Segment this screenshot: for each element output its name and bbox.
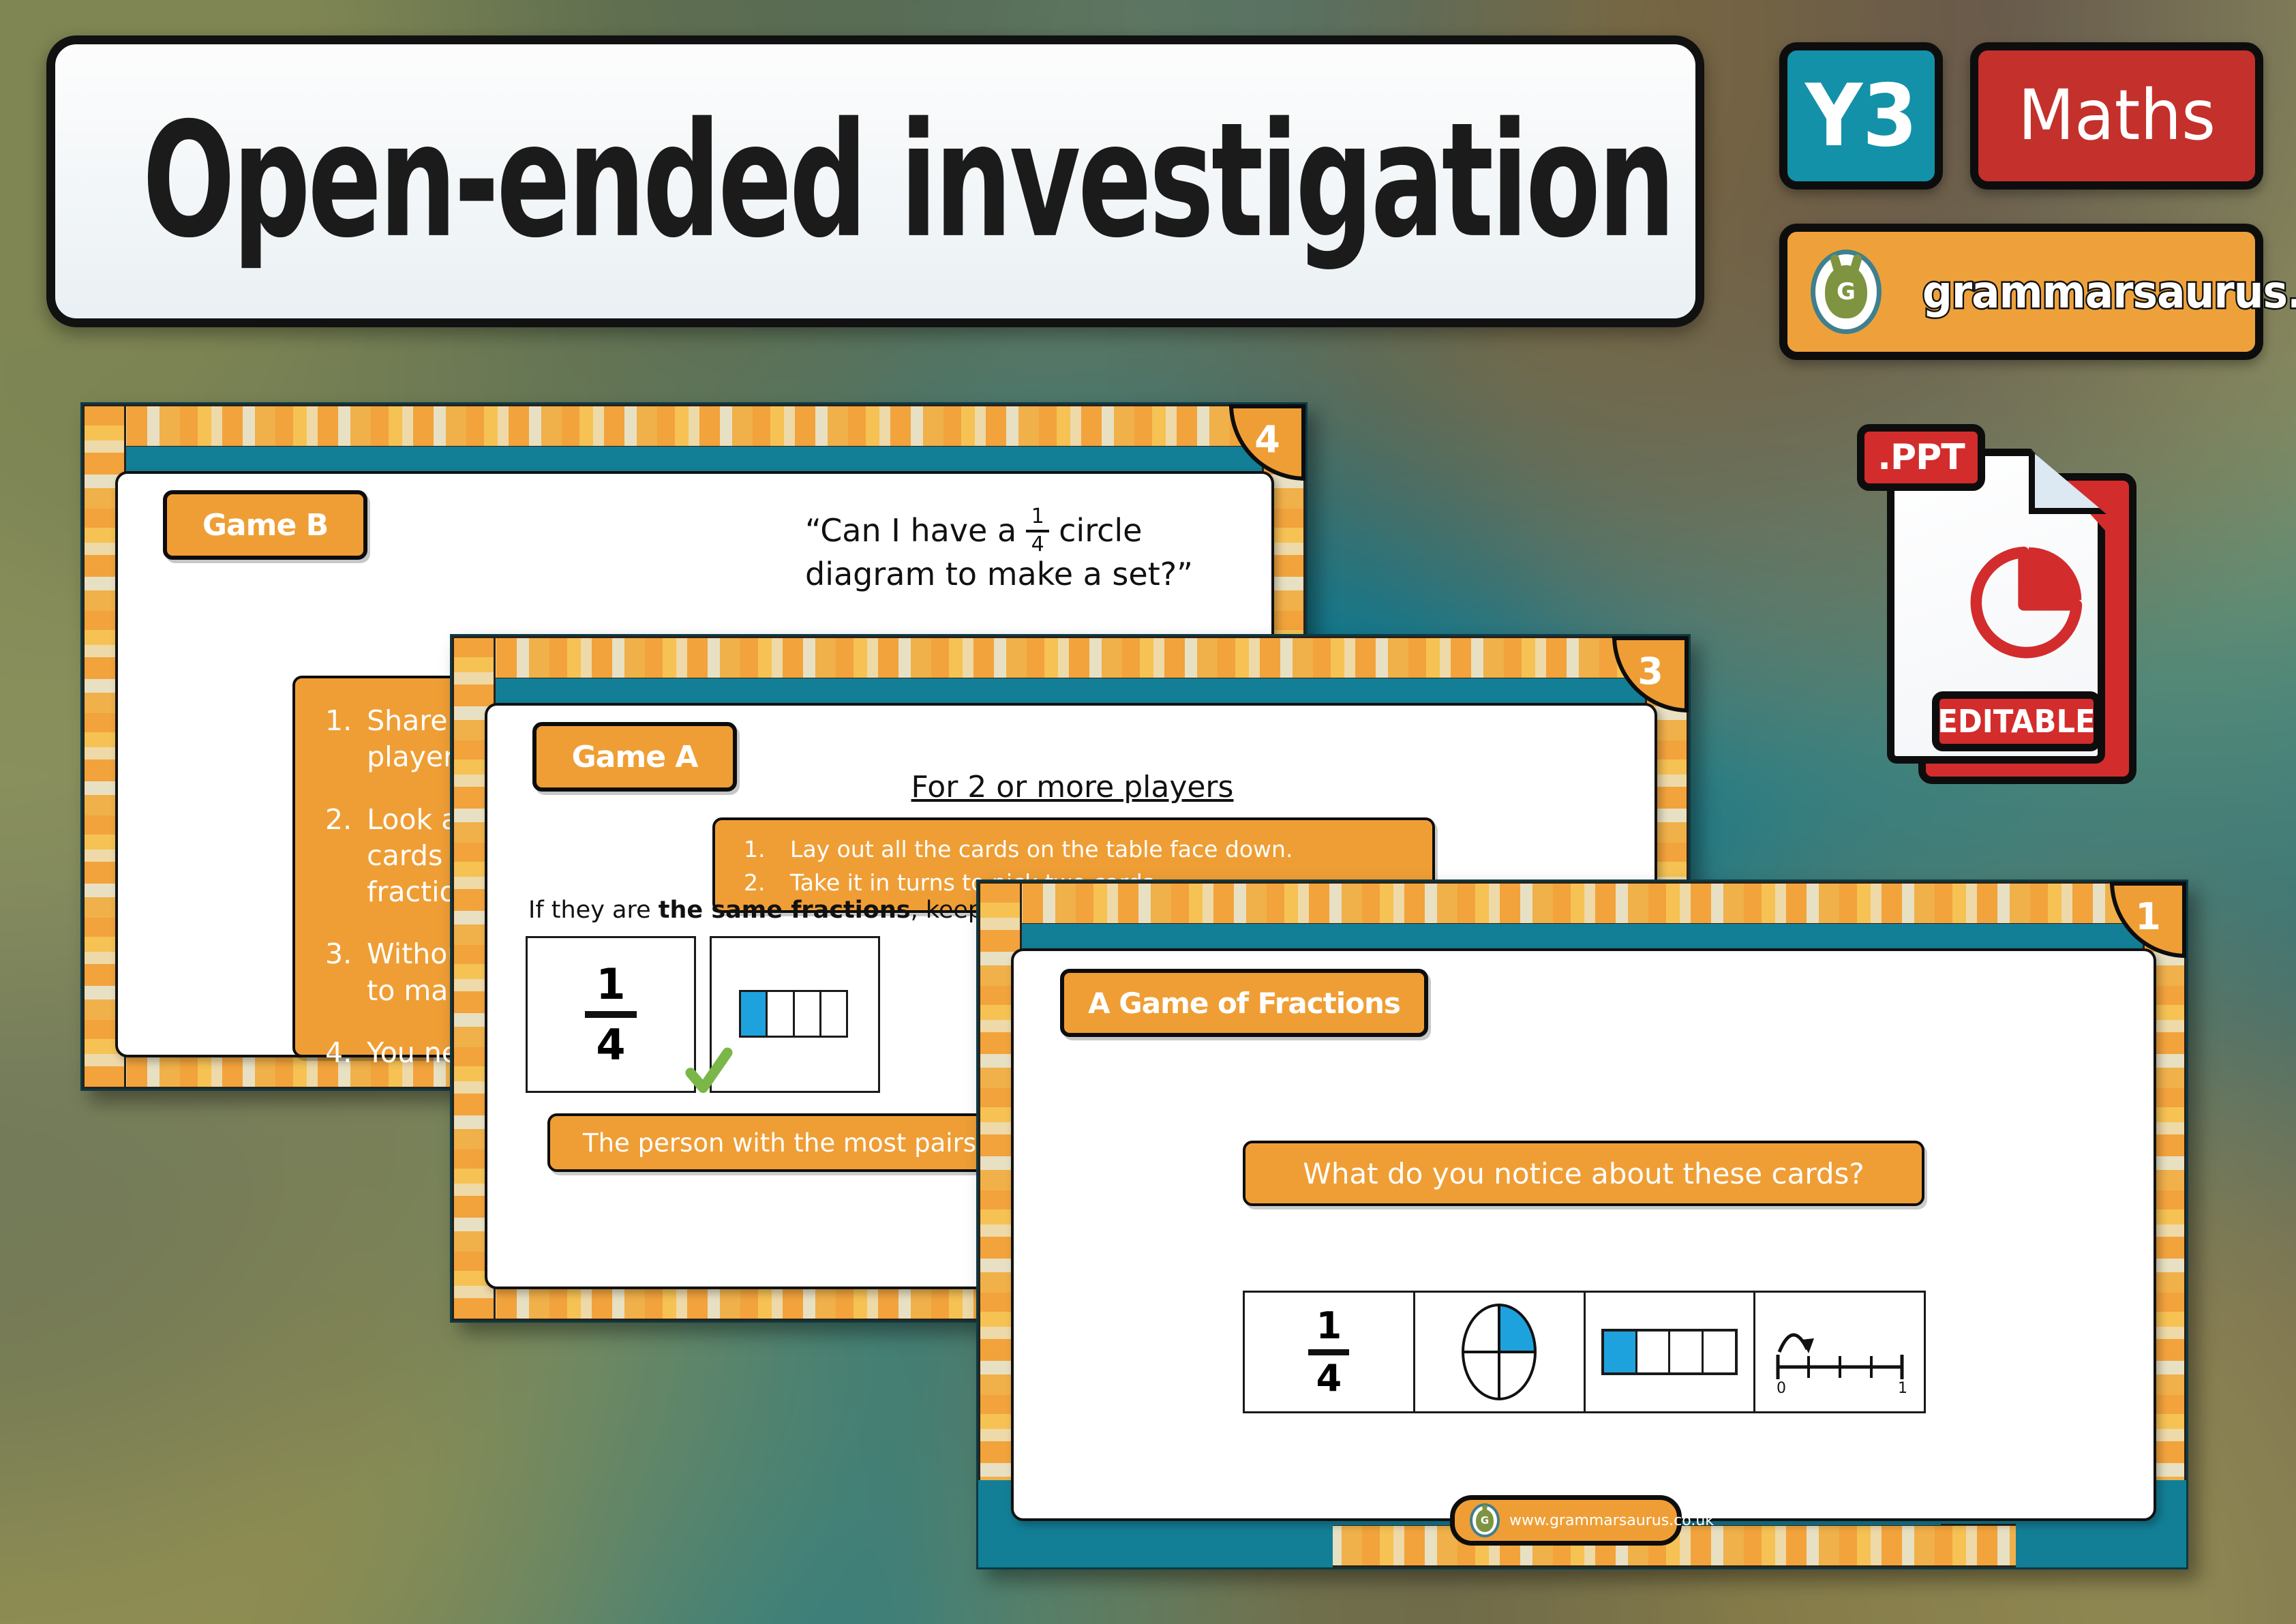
number-line-start-label: 0 bbox=[1777, 1380, 1786, 1397]
speech-line2: diagram to make a set?” bbox=[805, 555, 1241, 595]
editable-label-box: EDITABLE bbox=[1932, 691, 2101, 751]
file-format-label-box: .PPT bbox=[1857, 424, 1985, 491]
slide-title-tab-fractions: A Game of Fractions bbox=[1060, 969, 1428, 1037]
bar-cell-shaded bbox=[1604, 1332, 1637, 1372]
slide-title-tab-label: Game A bbox=[572, 740, 698, 775]
list-item-number: 1. bbox=[744, 834, 775, 866]
fraction-cards-row: 1 4 bbox=[1243, 1291, 1926, 1413]
bar-cell bbox=[1704, 1332, 1735, 1372]
bar-cell bbox=[1637, 1332, 1671, 1372]
speech-fraction-numerator: 1 bbox=[1031, 507, 1044, 528]
list-item-number: 3. bbox=[325, 936, 352, 1009]
number-line-icon: 0 1 bbox=[1768, 1304, 1912, 1400]
site-badge[interactable]: G grammarsaurus.co.uk bbox=[1779, 224, 2263, 360]
logo-letter: G bbox=[1837, 280, 1856, 303]
fraction-card-number-line: 0 1 bbox=[1755, 1293, 1924, 1411]
fraction-card-numeral: 1 4 bbox=[1245, 1293, 1415, 1411]
site-badge-label: grammarsaurus.co.uk bbox=[1922, 266, 2296, 318]
slide-title-tab-label: Game B bbox=[202, 508, 328, 543]
subject-badge: Maths bbox=[1970, 42, 2263, 190]
list-item-number: 1. bbox=[325, 703, 352, 776]
list-item: 1. Lay out all the cards on the table fa… bbox=[744, 834, 1404, 866]
bar-cell bbox=[768, 992, 794, 1036]
list-item-number: 2. bbox=[325, 802, 352, 911]
tick-icon bbox=[684, 1044, 734, 1098]
fraction-denominator: 4 bbox=[596, 1023, 625, 1066]
slide-footer-url-pill[interactable]: G www.grammarsaurus.co.uk bbox=[1450, 1495, 1682, 1546]
game-a-subtitle: For 2 or more players bbox=[670, 770, 1475, 805]
grammarsaurus-logo-icon: G bbox=[1811, 250, 1882, 334]
rule-before: If they are bbox=[528, 897, 659, 924]
fraction-numerator: 1 bbox=[1316, 1307, 1342, 1344]
file-format-badge: .PPT EDITABLE bbox=[1857, 424, 2143, 792]
file-format-label: .PPT bbox=[1877, 437, 1964, 478]
speech-bubble-text: “Can I have a 1 4 circle diagram to make… bbox=[805, 507, 1241, 595]
fraction-numerator: 1 bbox=[596, 963, 625, 1006]
slide-number: 1 bbox=[2135, 895, 2161, 938]
editable-label: EDITABLE bbox=[1937, 703, 2095, 740]
fraction-denominator: 4 bbox=[1316, 1359, 1342, 1397]
slide-title-tab-game-b: Game B bbox=[163, 490, 367, 560]
bar-cell-shaded bbox=[741, 992, 768, 1036]
circle-diagram-icon bbox=[1462, 1300, 1537, 1404]
speech-fraction: 1 4 bbox=[1026, 507, 1049, 555]
list-item-number: 2. bbox=[744, 867, 775, 899]
question-banner-label: What do you notice about these cards? bbox=[1303, 1157, 1864, 1190]
slide-number: 4 bbox=[1254, 418, 1280, 461]
bar-cell bbox=[1670, 1332, 1704, 1372]
year-badge: Y3 bbox=[1779, 42, 1943, 190]
speech-fraction-denominator: 4 bbox=[1031, 535, 1044, 556]
list-item-number: 4. bbox=[325, 1035, 352, 1071]
slide-preview-game-of-fractions[interactable]: 1 A Game of Fractions What do you notice… bbox=[976, 879, 2188, 1569]
grammarsaurus-logo-icon: G bbox=[1470, 1503, 1500, 1537]
speech-line1-after: circle bbox=[1059, 511, 1142, 551]
page-title: Open-ended investigation bbox=[142, 102, 1673, 260]
logo-letter: G bbox=[1481, 1516, 1489, 1526]
slide-number: 3 bbox=[1637, 650, 1663, 693]
fraction-card-bar bbox=[1586, 1293, 1756, 1411]
bar-model-card bbox=[710, 936, 880, 1093]
list-item-text: Lay out all the cards on the table face … bbox=[790, 834, 1293, 866]
rule-bold: the same fractions bbox=[659, 897, 911, 924]
fraction-numeral-card: 1 4 bbox=[526, 936, 696, 1093]
number-line-end-label: 1 bbox=[1898, 1380, 1907, 1397]
subject-badge-label: Maths bbox=[2018, 81, 2216, 151]
bar-cell bbox=[795, 992, 821, 1036]
question-banner: What do you notice about these cards? bbox=[1243, 1141, 1924, 1206]
page-title-bar: Open-ended investigation bbox=[46, 35, 1704, 327]
slide-title-tab-game-a: Game A bbox=[532, 722, 737, 792]
slide-title-tab-label: A Game of Fractions bbox=[1088, 987, 1400, 1020]
pie-chart-icon bbox=[1966, 537, 2091, 663]
year-badge-label: Y3 bbox=[1805, 73, 1918, 159]
slide-footer-url: www.grammarsaurus.co.uk bbox=[1509, 1512, 1714, 1529]
fraction-card-circle bbox=[1415, 1293, 1586, 1411]
bar-cell bbox=[821, 992, 846, 1036]
speech-line1-before: “Can I have a bbox=[805, 511, 1016, 551]
